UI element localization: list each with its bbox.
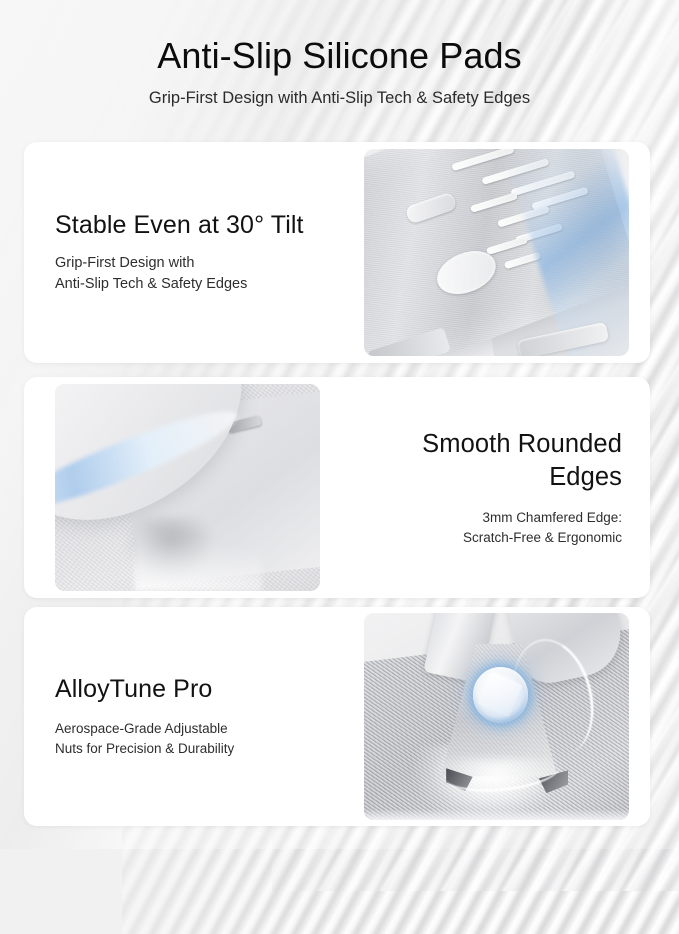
description-line-1: Grip-First Design with (55, 253, 340, 274)
ventilation-slot (486, 236, 528, 255)
title-line-1: Smooth Rounded (422, 430, 622, 458)
header: Anti-Slip Silicone Pads Grip-First Desig… (0, 34, 679, 109)
description-line-1: Aerospace-Grade Adjustable (55, 719, 340, 739)
feature-card-layout: Smooth Rounded Edges 3mm Chamfered Edge:… (24, 377, 650, 598)
feature-card-description: Grip-First Design with Anti-Slip Tech & … (55, 253, 340, 295)
description-line-2: Nuts for Precision & Durability (55, 739, 340, 759)
page-subtitle: Grip-First Design with Anti-Slip Tech & … (0, 87, 679, 109)
ventilation-slot (470, 192, 518, 213)
feature-card-layout: Stable Even at 30° Tilt Grip-First Desig… (24, 142, 650, 363)
description-line-2: Scratch-Free & Ergonomic (344, 528, 622, 548)
feature-card-layout: AlloyTune Pro Aerospace-Grade Adjustable… (24, 607, 650, 826)
feature-card-alloytune-pro: AlloyTune Pro Aerospace-Grade Adjustable… (24, 607, 650, 826)
photo-content (364, 613, 629, 820)
feature-card-title: Stable Even at 30° Tilt (55, 210, 340, 241)
photo-content (364, 149, 629, 356)
feature-card-text-column: AlloyTune Pro Aerospace-Grade Adjustable… (24, 674, 364, 759)
feature-card-title: Smooth Rounded Edges (344, 428, 622, 494)
photo-bottom-fade (364, 810, 629, 820)
surface-gloss-reflection (135, 521, 262, 591)
feature-card-text-column: Smooth Rounded Edges 3mm Chamfered Edge:… (320, 428, 650, 548)
feature-card-stable-tilt: Stable Even at 30° Tilt Grip-First Desig… (24, 142, 650, 363)
description-line-2: Anti-Slip Tech & Safety Edges (55, 274, 340, 295)
feature-card-rounded-edges: Smooth Rounded Edges 3mm Chamfered Edge:… (24, 377, 650, 598)
feature-card-text-column: Stable Even at 30° Tilt Grip-First Desig… (24, 210, 364, 295)
chamfered-rounded-edge-closeup-photo (55, 384, 320, 591)
feature-card-title: AlloyTune Pro (55, 674, 340, 705)
photo-content (55, 384, 320, 591)
adjustable-knob-hinge-closeup-photo (364, 613, 629, 820)
feature-card-description: 3mm Chamfered Edge: Scratch-Free & Ergon… (344, 508, 622, 548)
laptop-stand-tilted-vented-plate-photo (364, 149, 629, 356)
title-line-2: Edges (549, 463, 622, 491)
description-line-1: 3mm Chamfered Edge: (344, 508, 622, 528)
feature-card-description: Aerospace-Grade Adjustable Nuts for Prec… (55, 719, 340, 759)
page-title: Anti-Slip Silicone Pads (0, 34, 679, 78)
